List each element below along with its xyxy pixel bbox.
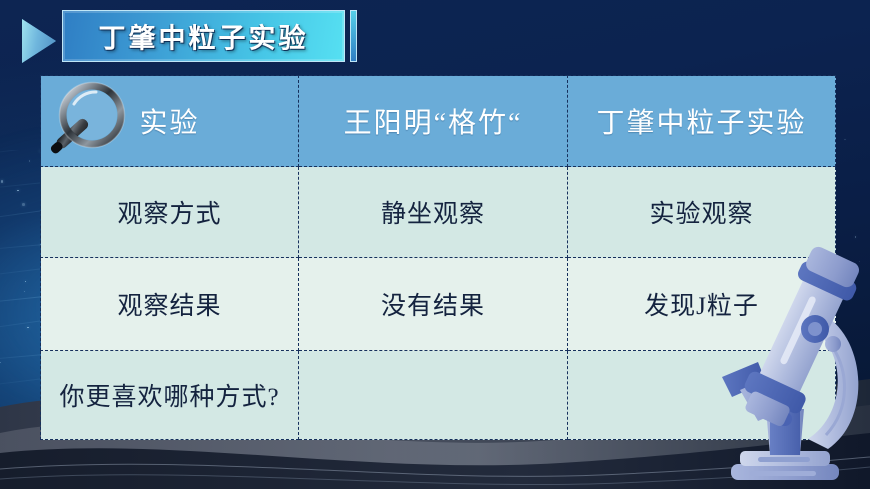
header-cell-wangyangming: 王阳明“格竹“	[299, 76, 568, 167]
table-row: 观察结果 没有结果 发现J粒子	[41, 258, 836, 351]
title-banner: 丁肇中粒子实验	[62, 10, 345, 62]
cell-method-dingzhaozhong: 实验观察	[568, 167, 836, 258]
cell-result-label: 观察结果	[41, 258, 299, 351]
header-cell-dingzhaozhong: 丁肇中粒子实验	[568, 76, 836, 167]
cell-method-wangyangming: 静坐观察	[299, 167, 568, 258]
cell-result-dingzhaozhong: 发现J粒子	[568, 258, 836, 351]
header-cell-experiment: 实验	[41, 76, 299, 167]
cell-method-label: 观察方式	[41, 167, 299, 258]
cell-question-blank-1	[299, 351, 568, 440]
comparison-table: 实验 王阳明“格竹“ 丁肇中粒子实验 观察方式 静坐观察 实验观察 观察结果 没…	[40, 75, 836, 440]
title-banner-accent	[350, 10, 357, 62]
table-question-row: 你更喜欢哪种方式?	[41, 351, 836, 440]
cell-question: 你更喜欢哪种方式?	[41, 351, 299, 440]
table-header-row: 实验 王阳明“格竹“ 丁肇中粒子实验	[41, 76, 836, 167]
table-row: 观察方式 静坐观察 实验观察	[41, 167, 836, 258]
slide-canvas: 丁肇中粒子实验 实验 王阳明“格竹“ 丁肇中粒子实验 观察方式 静坐观察 实验观…	[0, 0, 870, 489]
page-title: 丁肇中粒子实验	[63, 17, 344, 56]
cell-question-blank-2	[568, 351, 836, 440]
cell-result-wangyangming: 没有结果	[299, 258, 568, 351]
